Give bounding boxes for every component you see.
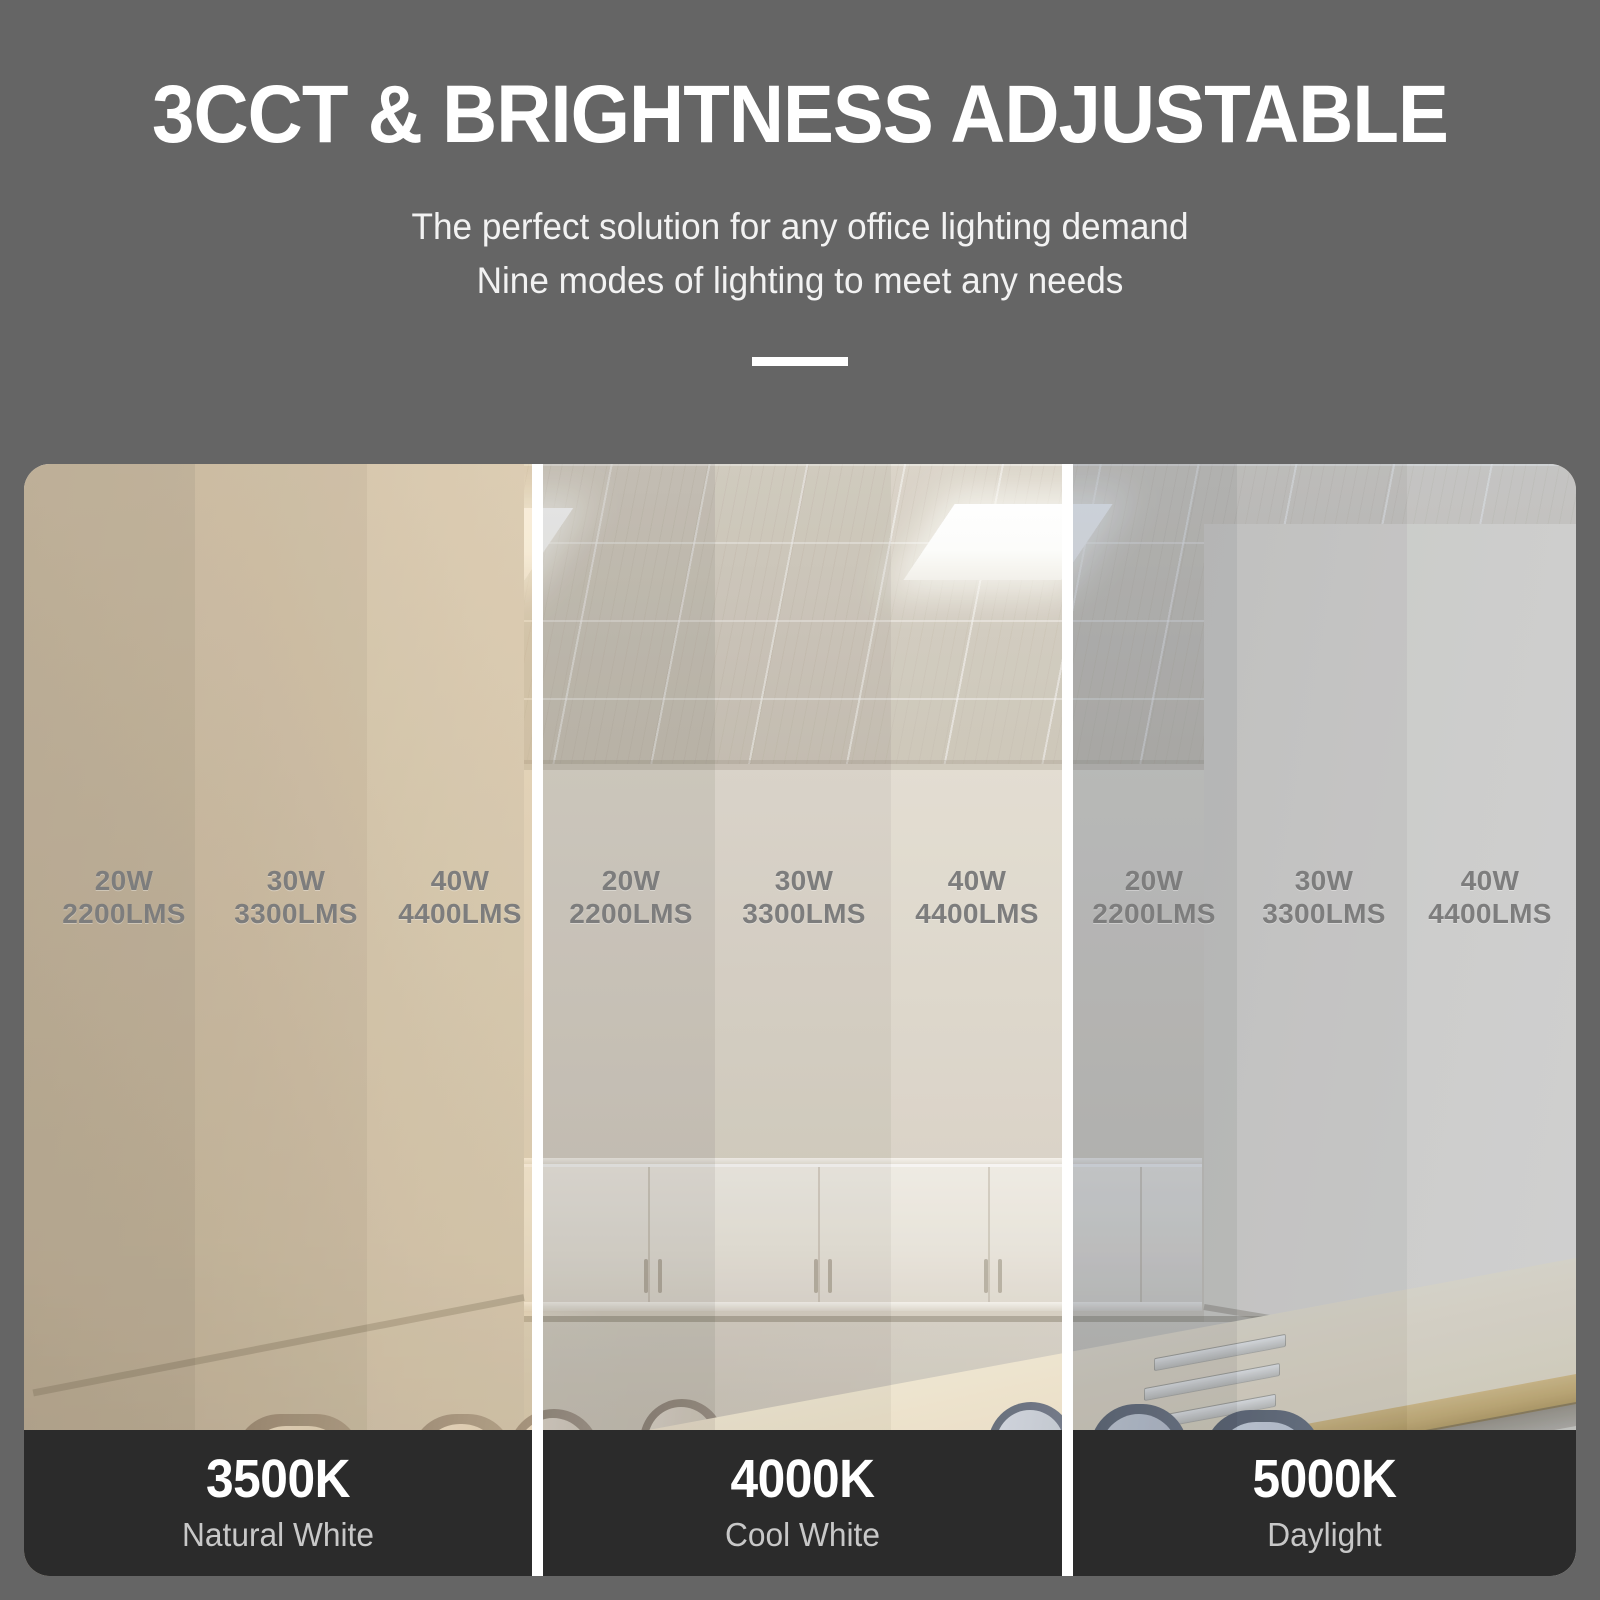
cabinet-door bbox=[650, 1167, 820, 1307]
column-divider-2 bbox=[1062, 464, 1073, 1576]
page-title: 3CCT & BRIGHTNESS ADJUSTABLE bbox=[56, 72, 1544, 158]
cct-name-3500k: Natural White bbox=[34, 1516, 522, 1554]
column-divider-1 bbox=[532, 464, 543, 1576]
office-room-scene bbox=[24, 464, 1576, 1576]
watt-label-30w-3500k: 30W 3300LMS bbox=[216, 864, 376, 930]
watt-label-20w-4000k: 20W 2200LMS bbox=[551, 864, 711, 930]
watt-label-20w-5000k: 20W 2200LMS bbox=[1074, 864, 1234, 930]
watt-label-40w-5000k: 40W 4400LMS bbox=[1410, 864, 1570, 930]
cabinet-handle bbox=[998, 1259, 1002, 1293]
cabinet-handle bbox=[658, 1259, 662, 1293]
cct-label-4000k: 4000K Cool White bbox=[543, 1430, 1062, 1576]
cabinet-handle bbox=[984, 1259, 988, 1293]
header: 3CCT & BRIGHTNESS ADJUSTABLE The perfect… bbox=[0, 0, 1600, 366]
cct-kelvin-4000k: 4000K bbox=[564, 1448, 1041, 1510]
cabinet-handle bbox=[828, 1259, 832, 1293]
left-wall bbox=[24, 464, 524, 1576]
watt-label-20w-3500k: 20W 2200LMS bbox=[44, 864, 204, 930]
watt-label-30w-5000k: 30W 3300LMS bbox=[1244, 864, 1404, 930]
watt-label-40w-3500k: 40W 4400LMS bbox=[380, 864, 540, 930]
cct-label-3500k: 3500K Natural White bbox=[24, 1430, 532, 1576]
watt-label-40w-4000k: 40W 4400LMS bbox=[897, 864, 1057, 930]
cct-label-5000k: 5000K Daylight bbox=[1073, 1430, 1576, 1576]
cct-kelvin-3500k: 3500K bbox=[44, 1448, 511, 1510]
cct-comparison-photo: 20W 2200LMS 30W 3300LMS 40W 4400LMS 20W … bbox=[24, 464, 1576, 1576]
column-divider-1-bar bbox=[532, 1430, 543, 1576]
cct-name-4000k: Cool White bbox=[553, 1516, 1051, 1554]
cabinet-door bbox=[820, 1167, 990, 1307]
cct-name-5000k: Daylight bbox=[1083, 1516, 1566, 1554]
watt-label-30w-4000k: 30W 3300LMS bbox=[724, 864, 884, 930]
subtitle-line-1: The perfect solution for any office ligh… bbox=[40, 200, 1560, 254]
cct-label-bar: 3500K Natural White 4000K Cool White 500… bbox=[24, 1430, 1576, 1576]
cabinet-handle bbox=[814, 1259, 818, 1293]
cabinet-handle bbox=[644, 1259, 648, 1293]
subtitle-block: The perfect solution for any office ligh… bbox=[0, 200, 1600, 309]
header-divider-rule bbox=[752, 357, 848, 366]
column-divider-2-bar bbox=[1062, 1430, 1073, 1576]
cct-kelvin-5000k: 5000K bbox=[1093, 1448, 1556, 1510]
subtitle-line-2: Nine modes of lighting to meet any needs bbox=[40, 254, 1560, 308]
